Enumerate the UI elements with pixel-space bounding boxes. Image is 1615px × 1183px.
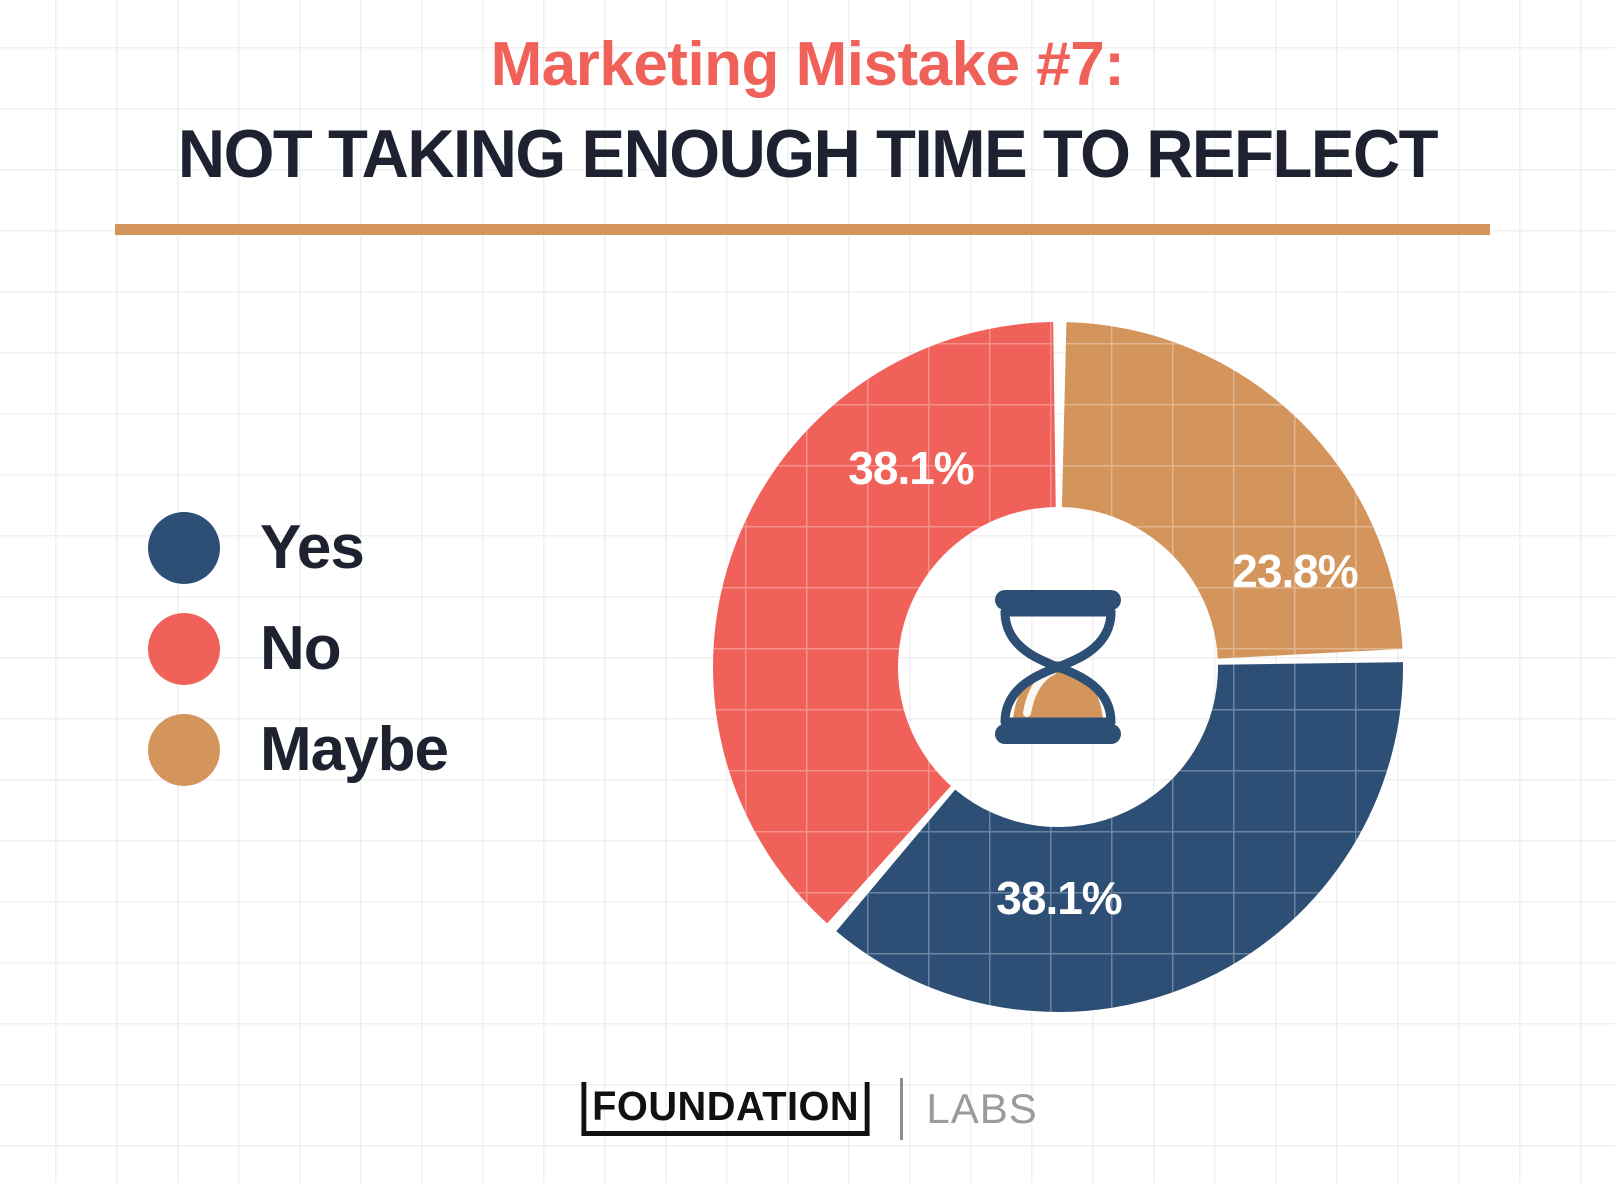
foundation-logo-text: FOUNDATION	[592, 1083, 859, 1129]
legend-item-label: No	[260, 618, 341, 680]
hourglass-icon	[995, 590, 1121, 744]
infographic-page: Marketing Mistake #7: NOT TAKING ENOUGH …	[0, 0, 1615, 1183]
foundation-logo[interactable]: FOUNDATION	[582, 1082, 870, 1136]
labs-logo-text: LABS	[926, 1088, 1037, 1130]
slice-value-label: 38.1%	[996, 872, 1122, 924]
legend-dot-icon	[148, 613, 220, 685]
legend-item-no[interactable]: No	[148, 598, 448, 699]
title-divider-rule	[115, 224, 1490, 235]
legend-item-maybe[interactable]: Maybe	[148, 699, 448, 800]
legend-dot-icon	[148, 512, 220, 584]
logo-divider	[900, 1078, 903, 1140]
header: Marketing Mistake #7: NOT TAKING ENOUGH …	[0, 34, 1615, 188]
donut-chart-svg: 38.1%23.8%38.1%	[713, 322, 1403, 1012]
donut-chart: 38.1%23.8%38.1%	[713, 322, 1403, 1012]
legend-dot-icon	[148, 714, 220, 786]
legend-item-yes[interactable]: Yes	[148, 497, 448, 598]
chart-legend: Yes No Maybe	[148, 497, 448, 800]
page-title-kicker: Marketing Mistake #7:	[0, 34, 1615, 96]
foundation-logo-underline	[582, 1131, 870, 1136]
slice-value-label: 38.1%	[848, 442, 974, 494]
legend-item-label: Maybe	[260, 719, 448, 781]
footer: FOUNDATION LABS	[0, 1078, 1615, 1140]
slice-value-label: 23.8%	[1232, 545, 1358, 597]
page-title: NOT TAKING ENOUGH TIME TO REFLECT	[32, 120, 1582, 188]
legend-item-label: Yes	[260, 517, 364, 579]
